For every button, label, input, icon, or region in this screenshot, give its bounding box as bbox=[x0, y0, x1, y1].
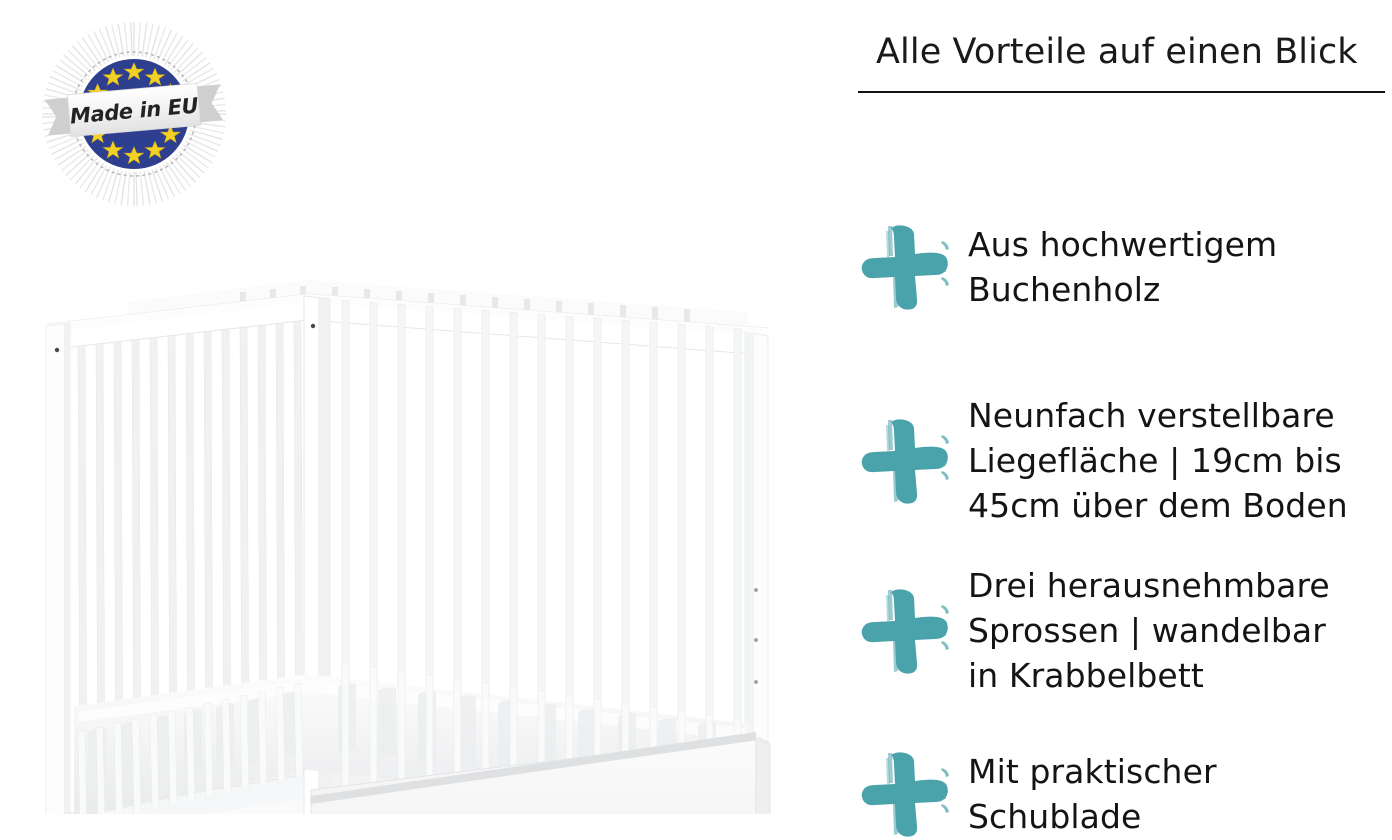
product-feature-banner: Made in EU bbox=[0, 0, 1392, 819]
feature-item: Mit praktischer Schublade bbox=[858, 748, 1386, 840]
features-panel: Alle Vorteile auf einen Blick bbox=[858, 30, 1386, 800]
feature-item: Aus hochwertigem Buchenholz bbox=[858, 221, 1386, 313]
baby-crib-icon bbox=[8, 262, 808, 814]
plus-brush-icon bbox=[858, 221, 954, 313]
plus-brush-icon bbox=[858, 585, 954, 677]
features-title: Alle Vorteile auf einen Blick bbox=[858, 30, 1386, 74]
plus-brush-icon bbox=[858, 748, 954, 840]
feature-label: Mit praktischer Schublade bbox=[968, 749, 1386, 839]
made-in-eu-seal-icon: Made in EU bbox=[38, 18, 230, 210]
crib-product-image bbox=[8, 262, 808, 814]
title-divider bbox=[858, 91, 1385, 93]
feature-item: Drei herausnehmbare Sprossen | wandelbar… bbox=[858, 563, 1386, 698]
feature-label: Drei herausnehmbare Sprossen | wandelbar… bbox=[968, 563, 1330, 698]
plus-brush-icon bbox=[858, 415, 954, 507]
feature-item: Neunfach verstellbare Liegefläche | 19cm… bbox=[858, 393, 1386, 528]
feature-label: Neunfach verstellbare Liegefläche | 19cm… bbox=[968, 393, 1348, 528]
made-in-eu-badge: Made in EU bbox=[38, 18, 230, 210]
feature-label: Aus hochwertigem Buchenholz bbox=[968, 222, 1277, 312]
